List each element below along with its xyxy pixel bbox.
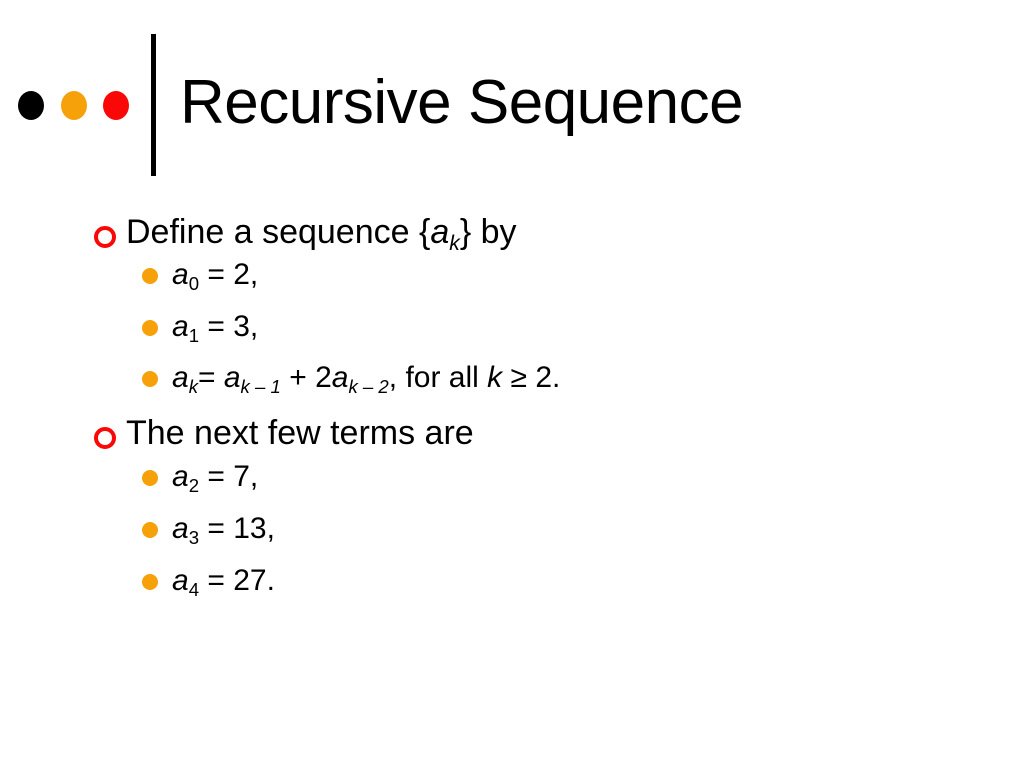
bullet-level2-a3: a3 = 13,: [0, 514, 1024, 566]
recurrence-term2: ak – 2: [332, 361, 389, 394]
recurrence-term1: ak – 1: [224, 361, 281, 394]
a1-equals: =: [207, 310, 225, 343]
recurrence-condition-relation: ≥: [511, 361, 527, 394]
decoration-dot-black: [18, 91, 44, 120]
slide-body: Define a sequence {ak} by a0 = 2, a1 = 3…: [0, 215, 1024, 618]
slide-canvas: Recursive Sequence Define a sequence {ak…: [0, 0, 1024, 768]
bullet-level2-a1: a1 = 3,: [0, 312, 1024, 363]
recurrence-comma: ,: [389, 361, 397, 394]
equation-a0: a0 = 2,: [172, 260, 258, 290]
bullet-dot-icon: [142, 574, 158, 590]
bullet-level1-label: The next few terms are: [126, 416, 474, 450]
bullet-dot-icon: [142, 470, 158, 486]
equation-a2: a2 = 7,: [172, 462, 258, 492]
equation-a4: a4 = 27.: [172, 566, 275, 596]
bullet-level1-label: Define a sequence {ak} by: [126, 215, 517, 249]
recurrence-term2-subscript: k – 2: [348, 376, 388, 397]
a3-lhs: a3: [172, 512, 199, 545]
bullet-level2-a2: a2 = 7,: [0, 462, 1024, 514]
recurrence-condition-value: 2.: [535, 361, 560, 394]
slide-title-block: Recursive Sequence: [0, 0, 1024, 200]
title-decoration-dots: [18, 91, 138, 121]
a0-subscript: 0: [189, 273, 199, 294]
a3-subscript: 3: [189, 527, 199, 548]
a3-equals: =: [207, 512, 225, 545]
bullet-dot-icon: [142, 320, 158, 336]
a1-subscript: 1: [189, 325, 199, 346]
define-var: ak: [430, 213, 459, 251]
equation-recurrence: ak= ak – 1 + 2ak – 2, for all k ≥ 2.: [172, 363, 560, 393]
a4-subscript: 4: [189, 579, 199, 600]
recurrence-coefficient: 2: [315, 361, 332, 394]
recurrence-lhs: ak: [172, 361, 198, 394]
bullet-ring-icon: [94, 226, 116, 248]
a4-equals: =: [207, 564, 225, 597]
a2-equals: =: [207, 460, 225, 493]
a0-equals: =: [207, 258, 225, 291]
define-prefix: Define a sequence {: [126, 213, 430, 251]
a2-lhs: a2: [172, 460, 199, 493]
recurrence-condition-prefix: for all: [405, 361, 478, 394]
recurrence-condition-var: k: [487, 361, 502, 394]
a2-rhs: 7,: [233, 460, 258, 493]
a1-lhs: a1: [172, 310, 199, 343]
bullet-level2-a0: a0 = 2,: [0, 260, 1024, 312]
title-vertical-rule: [151, 34, 156, 176]
bullet-ring-icon: [94, 427, 116, 449]
bullet-dot-icon: [142, 371, 158, 387]
define-suffix: } by: [460, 213, 517, 251]
a2-subscript: 2: [189, 475, 199, 496]
bullet-level1-next-terms: The next few terms are: [0, 416, 1024, 462]
define-var-subscript: k: [449, 232, 460, 255]
bullet-dot-icon: [142, 522, 158, 538]
equation-a1: a1 = 3,: [172, 312, 258, 342]
recurrence-term1-subscript: k – 1: [241, 376, 281, 397]
page-title: Recursive Sequence: [180, 68, 743, 138]
a4-rhs: 27.: [233, 564, 275, 597]
recurrence-lhs-subscript: k: [189, 376, 198, 397]
decoration-dot-red: [103, 91, 129, 120]
a0-rhs: 2,: [233, 258, 258, 291]
a3-rhs: 13,: [233, 512, 275, 545]
bullet-level2-a4: a4 = 27.: [0, 566, 1024, 618]
recurrence-plus: +: [289, 361, 307, 394]
bullet-level2-recurrence: ak= ak – 1 + 2ak – 2, for all k ≥ 2.: [0, 363, 1024, 416]
a1-rhs: 3,: [233, 310, 258, 343]
a0-lhs: a0: [172, 258, 199, 291]
decoration-dot-orange: [61, 91, 87, 120]
recurrence-equals: =: [198, 361, 216, 394]
equation-a3: a3 = 13,: [172, 514, 275, 544]
a4-lhs: a4: [172, 564, 199, 597]
bullet-dot-icon: [142, 268, 158, 284]
bullet-level1-define: Define a sequence {ak} by: [0, 215, 1024, 260]
